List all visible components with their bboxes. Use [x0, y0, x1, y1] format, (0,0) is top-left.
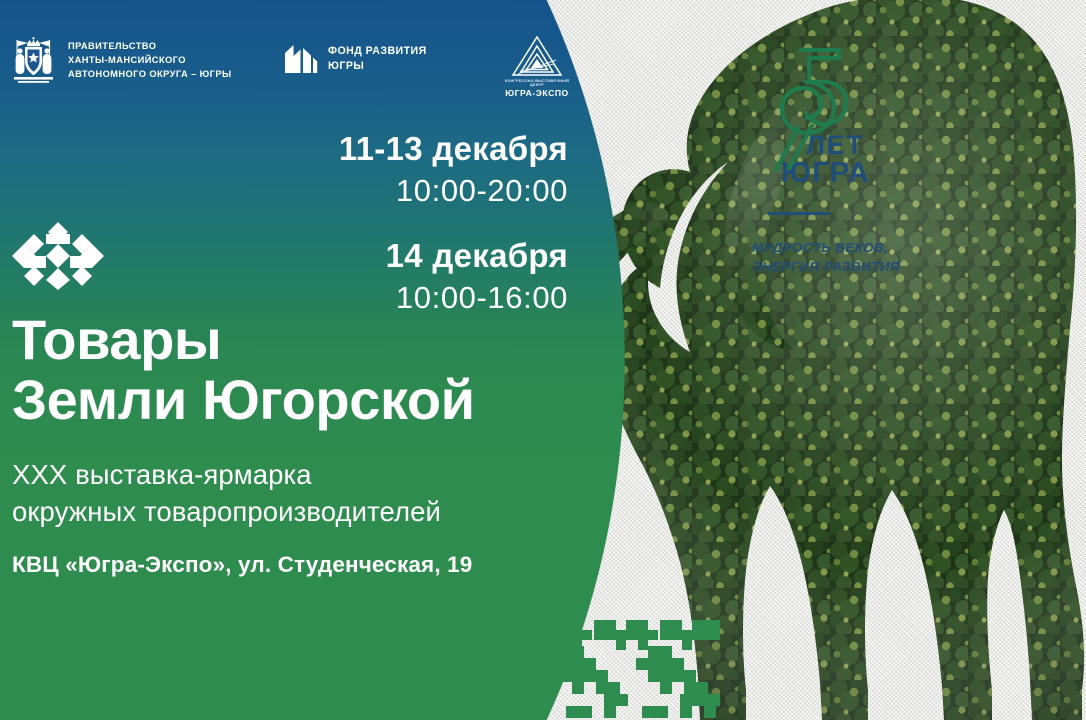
- venue-address: КВЦ «Югра-Экспо», ул. Студенческая, 19: [12, 552, 612, 578]
- expo-logo: КОНГРЕССНО-ВЫСТАВОЧНЫЙ ЦЕНТР ЮГРА-ЭКСПО: [500, 34, 574, 98]
- date-days-1: 11-13 декабря: [0, 130, 568, 169]
- khanty-zigzag-ornament-band: [0, 610, 720, 720]
- anniversary-region-label: ЮГРА: [781, 157, 870, 189]
- title-line-1: Товары: [12, 308, 221, 371]
- fund-logo: ФОНД РАЗВИТИЯ ЮГРЫ: [284, 44, 427, 74]
- anniversary-logo: ЛЕТ ЮГРА: [742, 24, 872, 194]
- fund-logo-text: ФОНД РАЗВИТИЯ ЮГРЫ: [328, 44, 427, 73]
- anniversary-slogan: МУДРОСТЬ ВЕКОВ, ЭНЕРГИЯ РАЗВИТИЯ: [752, 238, 927, 277]
- anniversary-years-label: ЛЕТ: [806, 130, 864, 160]
- government-logo: ПРАВИТЕЛЬСТВО ХАНТЫ-МАНСИЙСКОГО АВТОНОМН…: [10, 33, 232, 87]
- anniversary-divider: [768, 212, 830, 215]
- date-hours-1: 10:00-20:00: [0, 171, 568, 211]
- expo-logo-name: ЮГРА-ЭКСПО: [500, 88, 574, 98]
- yugra-development-fund-mark-icon: [284, 44, 318, 74]
- khanty-ornament-diamond-icon: [12, 222, 104, 290]
- khanty-mansi-coat-of-arms-icon: [10, 33, 57, 87]
- expo-logo-subtitle: КОНГРЕССНО-ВЫСТАВОЧНЫЙ ЦЕНТР: [500, 79, 574, 87]
- yugra-expo-triangle-mark-icon: [510, 34, 564, 78]
- poster-canvas: ПРАВИТЕЛЬСТВО ХАНТЫ-МАНСИЙСКОГО АВТОНОМН…: [0, 0, 1086, 720]
- government-logo-text: ПРАВИТЕЛЬСТВО ХАНТЫ-МАНСИЙСКОГО АВТОНОМН…: [68, 39, 232, 81]
- sponsor-logo-row: ПРАВИТЕЛЬСТВО ХАНТЫ-МАНСИЙСКОГО АВТОНОМН…: [0, 0, 640, 118]
- page-title: Товары Земли Югорской: [12, 310, 592, 431]
- title-line-2: Земли Югорской: [12, 370, 592, 430]
- date-group-first: 11-13 декабря 10:00-20:00: [0, 130, 568, 211]
- page-subtitle: XXX выставка-ярмарка окружных товаропрои…: [12, 457, 612, 531]
